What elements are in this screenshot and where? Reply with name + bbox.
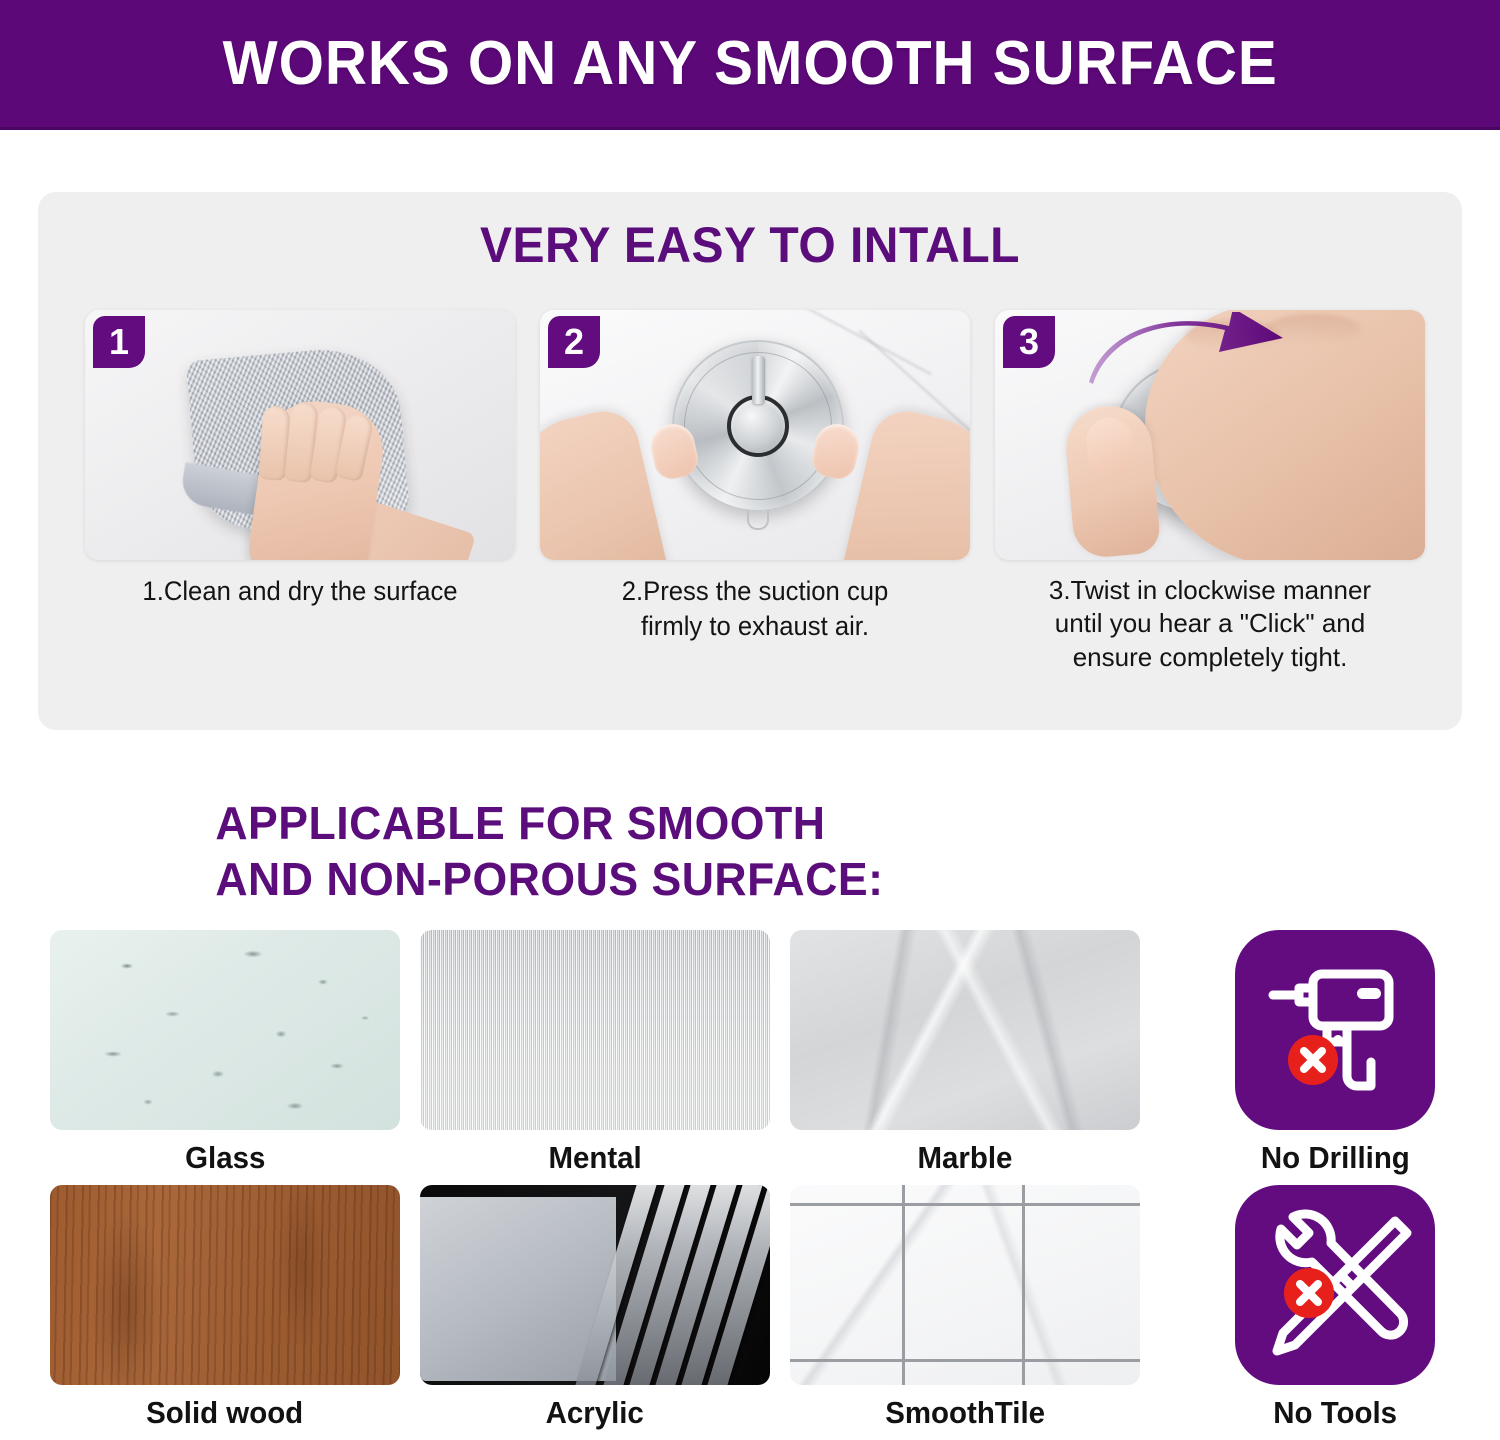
grout-line xyxy=(1022,1185,1025,1385)
install-step-2: 2 2.Press the suction cup firmly to exha… xyxy=(540,310,970,674)
install-step-1: 1 1.Clean and dry the surface xyxy=(85,310,515,674)
materials-grid: Glass Mental Marble xyxy=(40,930,1460,1440)
clean-surface-photo xyxy=(85,310,515,560)
marble-swatch xyxy=(790,930,1140,1130)
material-cell-glass: Glass xyxy=(40,930,410,1185)
feature-cell-no-drilling: No Drilling xyxy=(1150,930,1500,1185)
drill-icon xyxy=(1235,930,1435,1130)
step-3-caption-line-2: until you hear a "Click" and xyxy=(995,607,1425,640)
step-3-caption: 3.Twist in clockwise manner until you he… xyxy=(995,574,1425,674)
step-3-badge: 3 xyxy=(1003,316,1055,368)
left-thumb xyxy=(540,404,679,560)
glass-label: Glass xyxy=(185,1140,265,1176)
solid-wood-swatch xyxy=(50,1185,400,1385)
press-suction-cup-photo xyxy=(540,310,970,560)
applicable-title-line-2: AND NON-POROUS SURFACE: xyxy=(215,851,883,907)
install-section-title: VERY EASY TO INTALL xyxy=(66,192,1433,274)
grout-line xyxy=(790,1203,1140,1206)
right-thumb xyxy=(831,404,970,560)
step-3-image-card: 3 xyxy=(995,310,1425,560)
no-tools-label: No Tools xyxy=(1273,1395,1397,1431)
feature-cell-no-tools: No Tools xyxy=(1150,1185,1500,1440)
acrylic-label: Acrylic xyxy=(546,1395,644,1431)
install-step-3: 3 3.Twist in clockwise manner until you … xyxy=(995,310,1425,674)
step-2-caption: 2.Press the suction cup firmly to exhaus… xyxy=(551,574,960,643)
acrylic-swatch xyxy=(420,1185,770,1385)
step-1-badge: 1 xyxy=(93,316,145,368)
material-cell-acrylic: Acrylic xyxy=(410,1185,780,1440)
hook-stem xyxy=(752,356,765,404)
applicable-section-title: APPLICABLE FOR SMOOTH AND NON-POROUS SUR… xyxy=(215,795,883,907)
smooth-tile-swatch xyxy=(790,1185,1140,1385)
install-instructions-panel: VERY EASY TO INTALL 1 1.Clean and dry th… xyxy=(38,192,1462,730)
banner-title: WORKS ON ANY SMOOTH SURFACE xyxy=(222,28,1277,99)
material-cell-marble: Marble xyxy=(780,930,1150,1185)
no-drilling-badge xyxy=(1235,930,1435,1130)
grout-line xyxy=(790,1359,1140,1362)
metal-label: Mental xyxy=(548,1140,641,1176)
step-1-caption: 1.Clean and dry the surface xyxy=(96,574,505,609)
step-2-badge: 2 xyxy=(548,316,600,368)
glass-swatch xyxy=(50,930,400,1130)
material-cell-solid-wood: Solid wood xyxy=(40,1185,410,1440)
clockwise-arrow-icon xyxy=(1087,312,1317,392)
solid-wood-label: Solid wood xyxy=(146,1395,303,1431)
step-3-caption-line-1: 3.Twist in clockwise manner xyxy=(995,574,1425,607)
applicable-title-line-1: APPLICABLE FOR SMOOTH xyxy=(215,795,883,851)
suction-cup-tab xyxy=(747,510,769,530)
grout-line xyxy=(902,1185,905,1385)
twist-hook-photo xyxy=(995,310,1425,560)
install-steps-row: 1 1.Clean and dry the surface xyxy=(85,310,1421,674)
no-drilling-label: No Drilling xyxy=(1261,1140,1410,1176)
step-2-caption-line-1: 2.Press the suction cup xyxy=(551,574,960,609)
marble-label: Marble xyxy=(918,1140,1013,1176)
step-3-caption-line-3: ensure completely tight. xyxy=(995,641,1425,674)
top-banner: WORKS ON ANY SMOOTH SURFACE xyxy=(0,0,1500,130)
step-1-image-card: 1 xyxy=(85,310,515,560)
hook-hub xyxy=(727,395,789,457)
material-cell-smooth-tile: SmoothTile xyxy=(780,1185,1150,1440)
smooth-tile-label: SmoothTile xyxy=(885,1395,1045,1431)
material-cell-metal: Mental xyxy=(410,930,780,1185)
wrench-screwdriver-icon xyxy=(1235,1185,1435,1385)
step-2-image-card: 2 xyxy=(540,310,970,560)
no-tools-badge xyxy=(1235,1185,1435,1385)
metal-swatch xyxy=(420,930,770,1130)
step-2-caption-line-2: firmly to exhaust air. xyxy=(551,609,960,644)
